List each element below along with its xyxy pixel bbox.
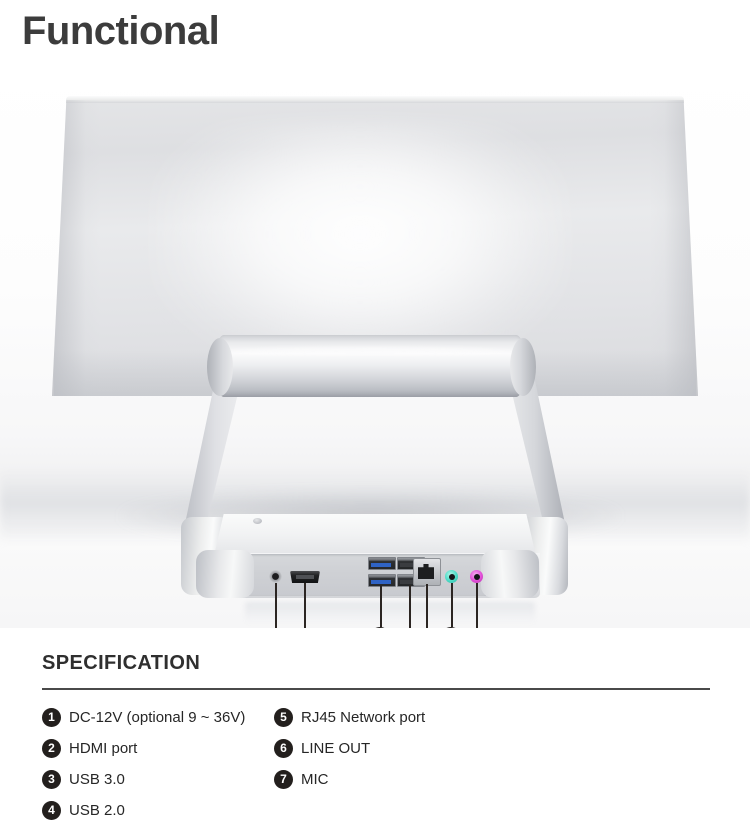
spec-label-2: HDMI port — [69, 740, 137, 757]
callout-leader-5 — [426, 584, 428, 628]
base-cap-right — [481, 550, 539, 598]
page-title: Functional — [22, 6, 219, 56]
base-reflection — [245, 602, 535, 624]
dc-power-jack-icon — [269, 570, 282, 583]
callout-leader-4 — [409, 585, 411, 628]
callout-leader-1 — [275, 583, 277, 628]
spec-badge-1: 1 — [42, 708, 61, 727]
hdmi-port-icon — [290, 571, 320, 583]
base-cap-left — [196, 550, 254, 598]
spec-badge-7: 7 — [274, 770, 293, 789]
callout-leader-2 — [304, 583, 306, 628]
usb-3-0-port-bottom-icon — [368, 574, 396, 587]
base-screw — [253, 518, 262, 524]
list-item: 7 MIC — [274, 764, 574, 795]
callout-badge-6[interactable]: 6 — [440, 627, 462, 628]
specification-column-right: 5 RJ45 Network port 6 LINE OUT 7 MIC — [274, 702, 574, 795]
spec-label-1: DC-12V (optional 9 ~ 36V) — [69, 709, 245, 726]
callout-leader-3 — [380, 585, 382, 627]
list-item: 5 RJ45 Network port — [274, 702, 574, 733]
spec-label-3: USB 3.0 — [69, 771, 125, 788]
spec-badge-4: 4 — [42, 801, 61, 820]
mic-jack-icon — [470, 570, 483, 583]
spec-badge-2: 2 — [42, 739, 61, 758]
callout-leader-7 — [476, 583, 478, 628]
base-top-surface — [214, 514, 536, 556]
rj45-network-port-icon — [413, 558, 441, 586]
product-photo: 1 2 3 4 5 6 7 — [0, 62, 750, 628]
spec-badge-6: 6 — [274, 739, 293, 758]
specification-divider — [42, 688, 710, 690]
hinge-cap-right — [510, 338, 536, 396]
callout-badge-3[interactable]: 3 — [369, 627, 391, 628]
spec-label-4: USB 2.0 — [69, 802, 125, 819]
usb-3-0-port-top-icon — [368, 557, 396, 570]
spec-label-5: RJ45 Network port — [301, 709, 425, 726]
hinge-cap-left — [207, 338, 233, 396]
monitor-top-edge — [66, 96, 684, 103]
hinge-highlight — [226, 347, 514, 357]
callout-leader-6 — [451, 583, 453, 627]
list-item: 4 USB 2.0 — [42, 795, 322, 826]
list-item: 6 LINE OUT — [274, 733, 574, 764]
specification-heading: SPECIFICATION — [42, 652, 200, 675]
line-out-jack-icon — [445, 570, 458, 583]
hinge-cylinder — [214, 335, 526, 397]
spec-label-6: LINE OUT — [301, 740, 370, 757]
spec-badge-3: 3 — [42, 770, 61, 789]
spec-badge-5: 5 — [274, 708, 293, 727]
spec-label-7: MIC — [301, 771, 329, 788]
